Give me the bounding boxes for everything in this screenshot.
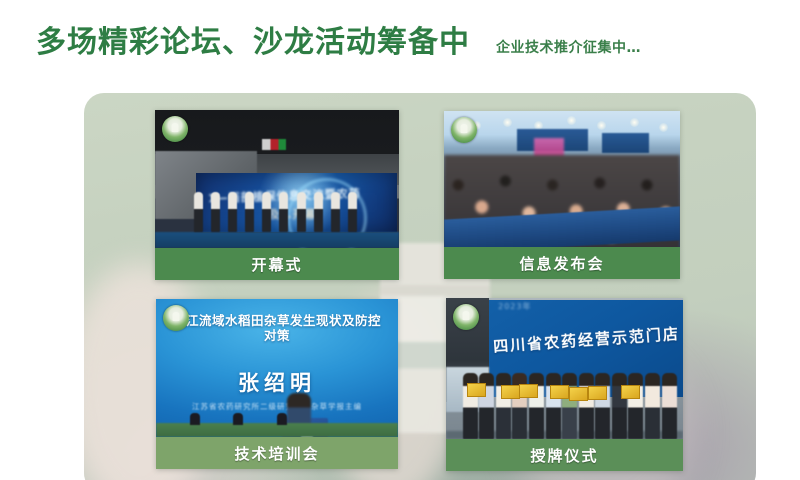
ceiling-light-icon bbox=[567, 116, 576, 125]
person-figure bbox=[512, 373, 527, 439]
award-plaque bbox=[621, 385, 640, 399]
stage-sign-board bbox=[602, 133, 649, 153]
page-subtitle: 企业技术推介征集中… bbox=[496, 37, 641, 57]
award-plaque bbox=[569, 387, 588, 401]
person-figure bbox=[546, 373, 561, 439]
photo-caption-label: 开幕式 bbox=[251, 254, 302, 275]
led-banner-subtitle: 及…开幕 bbox=[268, 206, 316, 222]
award-plaque bbox=[501, 385, 520, 399]
page-header: 多场精彩论坛、沙龙活动筹备中 企业技术推介征集中… bbox=[0, 28, 800, 80]
stage-floor bbox=[156, 423, 398, 437]
person-figure bbox=[331, 192, 340, 232]
person-figure bbox=[595, 373, 610, 439]
ceiling-light-icon bbox=[659, 123, 668, 132]
photo-card[interactable]: 1—西部植保信息交流暨农药 及…开幕 bbox=[155, 110, 399, 280]
photo-caption-bar: 开幕式 bbox=[155, 248, 399, 280]
photo-grid: 1—西部植保信息交流暨农药 及…开幕 bbox=[84, 93, 756, 480]
slide-title-text: 关江流域水稻田杂草发生现状及防控对策 bbox=[168, 313, 386, 344]
photo-caption-bar: 授牌仪式 bbox=[446, 439, 683, 471]
photo-caption-label: 信息发布会 bbox=[519, 253, 604, 274]
person-figure bbox=[348, 192, 357, 232]
page-title: 多场精彩论坛、沙龙活动筹备中 bbox=[36, 28, 470, 58]
person-figure bbox=[579, 373, 594, 439]
person-figure bbox=[297, 192, 306, 232]
photo-collage-board: 1—西部植保信息交流暨农药 及…开幕 bbox=[84, 93, 756, 480]
photo-caption-bar: 技术培训会 bbox=[156, 437, 398, 469]
exit-sign-icon bbox=[262, 139, 286, 150]
organization-emblem-icon bbox=[163, 305, 189, 331]
organization-emblem-icon bbox=[453, 304, 479, 330]
person-figure bbox=[314, 192, 323, 232]
organization-emblem-icon bbox=[162, 116, 188, 142]
person-figure bbox=[245, 192, 254, 232]
person-figure bbox=[612, 373, 627, 439]
award-plaque bbox=[588, 386, 607, 400]
stage-lamp-icon bbox=[233, 413, 243, 425]
person-figure bbox=[529, 373, 544, 439]
slide-page: 多场精彩论坛、沙龙活动筹备中 企业技术推介征集中… 1—西部植保信息交流暨农药 … bbox=[0, 0, 800, 480]
stage-lamp-icon bbox=[190, 413, 200, 425]
award-plaque bbox=[550, 385, 569, 399]
ceiling-light-icon bbox=[503, 118, 512, 127]
person-figure bbox=[628, 373, 643, 439]
person-figure bbox=[211, 192, 220, 232]
award-plaque bbox=[519, 384, 538, 398]
person-figure bbox=[562, 373, 577, 439]
stage-platform bbox=[155, 232, 399, 248]
slide-speaker-affiliation: 江苏省农药研究所二级研究员、杂草学报主编 bbox=[156, 401, 398, 412]
photo-caption-bar: 信息发布会 bbox=[444, 247, 680, 279]
award-plaque bbox=[467, 383, 486, 397]
slide-speaker-name: 张绍明 bbox=[156, 367, 398, 397]
person-figure bbox=[228, 192, 237, 232]
stage-lamp-icon bbox=[277, 413, 287, 425]
person-figure bbox=[645, 373, 660, 439]
person-figure bbox=[496, 373, 511, 439]
person-figure bbox=[662, 373, 677, 439]
person-figure bbox=[262, 192, 271, 232]
photo-card[interactable]: 关江流域水稻田杂草发生现状及防控对策 张绍明 江苏省农药研究所二级研究员、杂草学… bbox=[156, 299, 398, 469]
ceremony-banner-top-text: 2023年 bbox=[498, 301, 531, 312]
photo-card[interactable]: 信息发布会 bbox=[444, 111, 680, 279]
photo-caption-label: 技术培训会 bbox=[234, 443, 319, 464]
photo-card[interactable]: 2023年 四川省农药经营示范门店 bbox=[446, 298, 683, 471]
person-figure bbox=[194, 192, 203, 232]
person-figure bbox=[279, 192, 288, 232]
photo-caption-label: 授牌仪式 bbox=[530, 445, 598, 466]
organization-emblem-icon bbox=[451, 117, 477, 143]
